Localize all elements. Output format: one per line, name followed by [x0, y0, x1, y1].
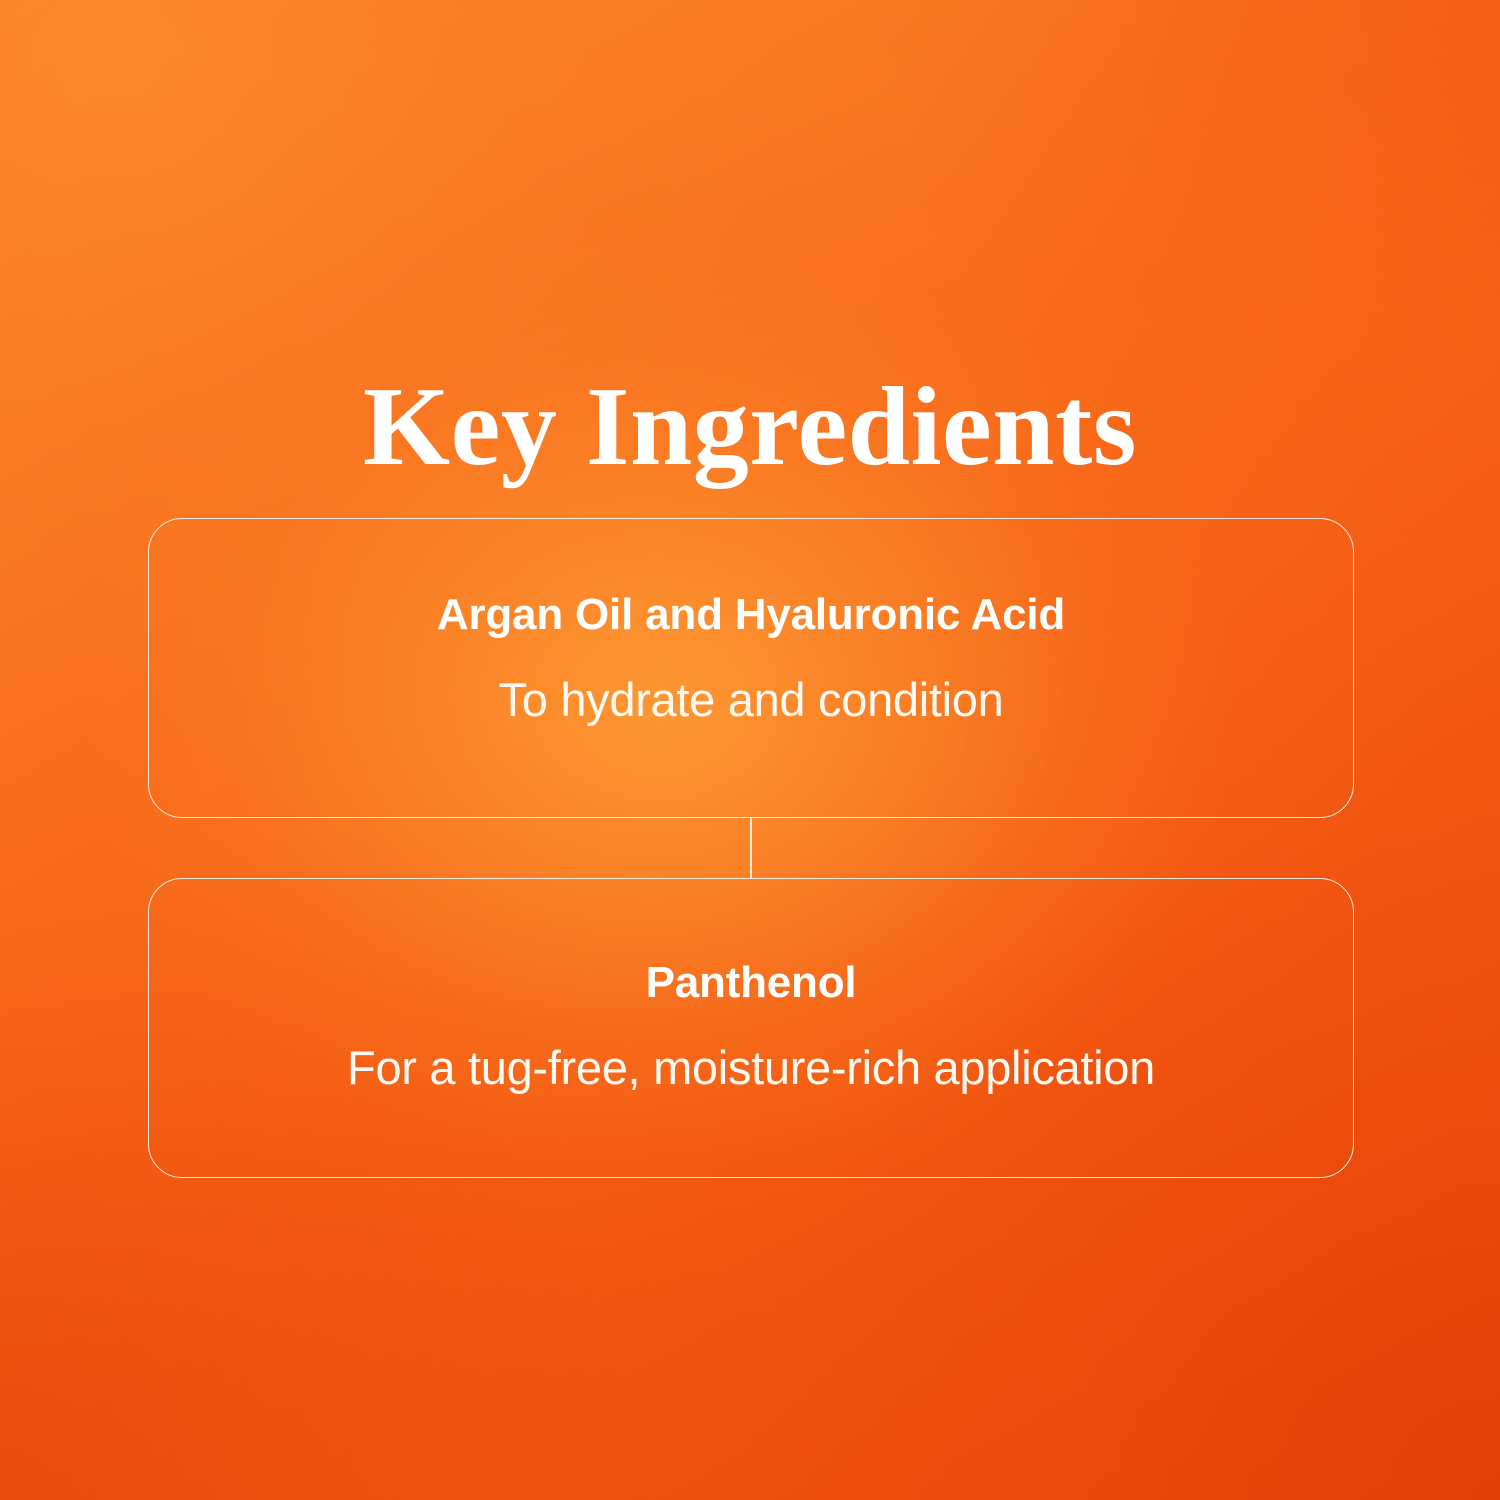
card-connector-line [750, 817, 752, 879]
page-title: Key Ingredients [0, 371, 1500, 483]
ingredient-name: Panthenol [149, 961, 1353, 1005]
ingredient-card-content: Argan Oil and Hyaluronic Acid To hydrate… [149, 593, 1353, 724]
ingredient-card-panthenol: Panthenol For a tug-free, moisture-rich … [148, 878, 1354, 1178]
ingredient-card-content: Panthenol For a tug-free, moisture-rich … [149, 961, 1353, 1092]
ingredient-card-argan-oil: Argan Oil and Hyaluronic Acid To hydrate… [148, 518, 1354, 818]
ingredient-benefit: For a tug-free, moisture-rich applicatio… [149, 1043, 1353, 1092]
key-ingredients-graphic: Key Ingredients Argan Oil and Hyaluronic… [0, 0, 1500, 1500]
ingredient-benefit: To hydrate and condition [149, 675, 1353, 724]
ingredient-name: Argan Oil and Hyaluronic Acid [149, 593, 1353, 637]
